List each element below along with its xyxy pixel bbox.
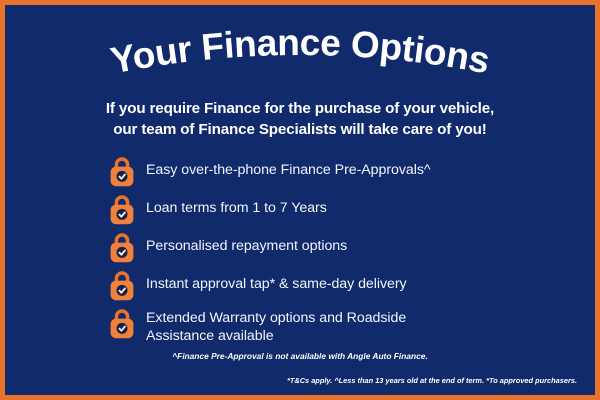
padlock-check-icon [108, 194, 136, 225]
banner-panel: Your Finance Options If you require Fina… [5, 5, 595, 395]
banner-subtitle: If you require Finance for the purchase … [5, 98, 595, 140]
list-item-label: Extended Warranty options and Roadside A… [146, 307, 476, 345]
subtitle-line-1: If you require Finance for the purchase … [5, 98, 595, 119]
page-title-text: Your Finance Options [107, 27, 493, 81]
list-item: Loan terms from 1 to 7 Years [108, 193, 548, 224]
page-title-arc: Your Finance Options [100, 27, 500, 89]
padlock-check-icon [108, 232, 136, 263]
list-item: Extended Warranty options and Roadside A… [108, 307, 548, 345]
finance-options-banner: Your Finance Options If you require Fina… [0, 0, 600, 400]
padlock-check-icon [108, 270, 136, 301]
disclaimer-terms: *T&Cs apply. ^Less than 13 years old at … [287, 376, 577, 385]
padlock-check-icon [108, 156, 136, 187]
list-item: Instant approval tap* & same-day deliver… [108, 269, 548, 300]
list-item-label: Instant approval tap* & same-day deliver… [146, 269, 407, 293]
padlock-check-icon [108, 308, 136, 339]
page-title: Your Finance Options [5, 27, 595, 89]
list-item: Easy over-the-phone Finance Pre-Approval… [108, 155, 548, 186]
list-item-label: Personalised repayment options [146, 231, 347, 255]
list-item: Personalised repayment options [108, 231, 548, 262]
list-item-label: Easy over-the-phone Finance Pre-Approval… [146, 155, 431, 179]
feature-list: Easy over-the-phone Finance Pre-Approval… [108, 155, 548, 345]
disclaimer-pre-approval: ^Finance Pre-Approval is not available w… [5, 351, 595, 361]
subtitle-line-2: our team of Finance Specialists will tak… [5, 119, 595, 140]
list-item-label: Loan terms from 1 to 7 Years [146, 193, 327, 217]
